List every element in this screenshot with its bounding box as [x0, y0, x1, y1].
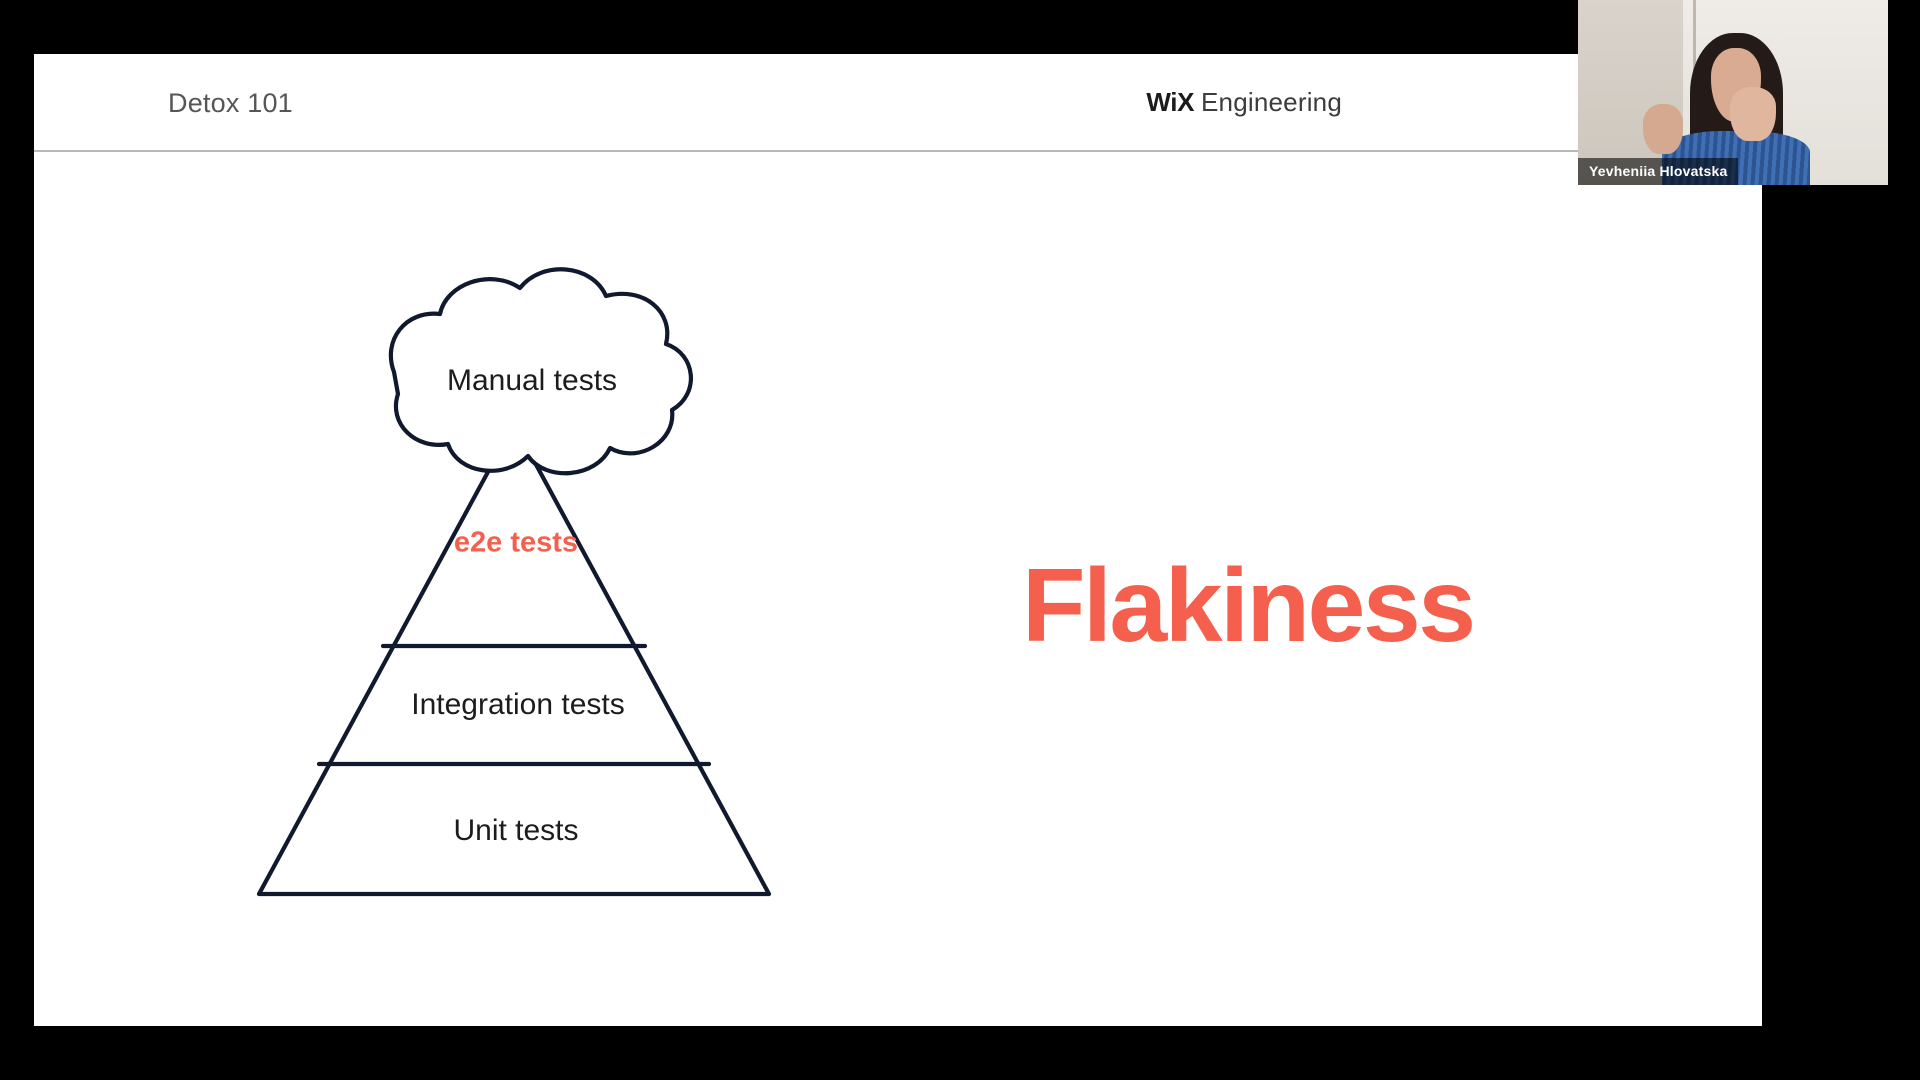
- presenter-hand-right: [1730, 87, 1777, 141]
- deck-title: Detox 101: [168, 88, 293, 119]
- tier-label-unit: Unit tests: [453, 814, 578, 847]
- brand-lockup: WiXEngineering: [1146, 87, 1342, 118]
- slide-header: Detox 101 WiXEngineering: [34, 54, 1762, 152]
- participant-name-label: Yevheniia Hlovatska: [1578, 158, 1738, 185]
- webcam-tile[interactable]: Yevheniia Hlovatska: [1578, 0, 1888, 185]
- tier-label-integration: Integration tests: [411, 688, 624, 721]
- cloud-label: Manual tests: [447, 364, 617, 397]
- slide-surface: Detox 101 WiXEngineering Manual tests e2…: [34, 54, 1762, 1026]
- wix-logo-text: WiX: [1146, 87, 1194, 117]
- presentation-stage: Detox 101 WiXEngineering Manual tests e2…: [0, 0, 1920, 1080]
- presenter-hand-left: [1643, 104, 1683, 154]
- tier-label-e2e: e2e tests: [454, 527, 578, 559]
- brand-division-label: Engineering: [1201, 87, 1342, 117]
- headline-flakiness: Flakiness: [1022, 554, 1474, 658]
- test-pyramid-diagram: Manual tests e2e tests Integration tests…: [144, 254, 884, 934]
